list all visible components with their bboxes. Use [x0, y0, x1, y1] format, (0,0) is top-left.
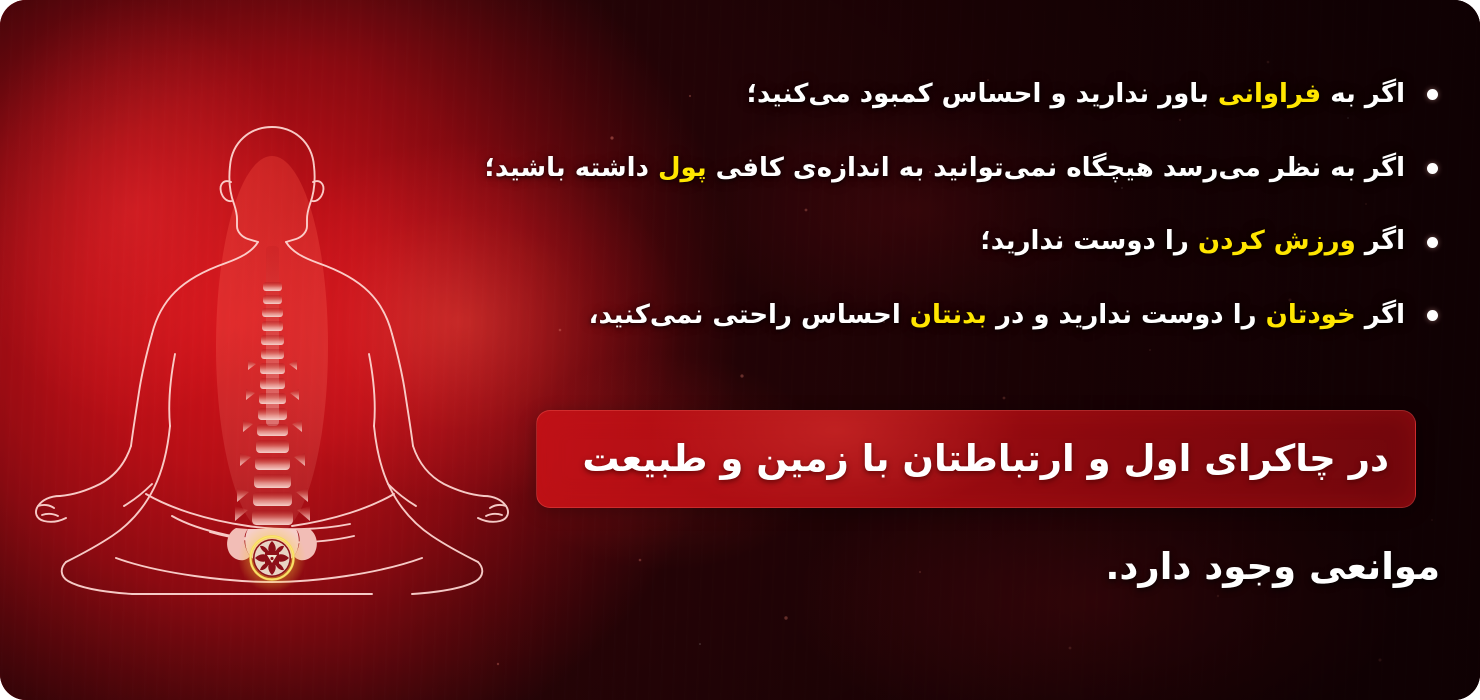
bullet-dot-icon [1427, 310, 1438, 321]
bullet-text: اگر خودتان را دوست ندارید و در بدنتان اح… [589, 297, 1405, 335]
bullet-text: اگر به نظر می‌رسد هیچگاه نمی‌توانید به ا… [485, 150, 1405, 188]
bullet-dot-icon [1427, 89, 1438, 100]
chakra-banner: اگر به فراوانی باور ندارید و احساس کمبود… [0, 0, 1480, 700]
bullet-text: اگر به فراوانی باور ندارید و احساس کمبود… [747, 76, 1405, 114]
list-item: اگر ورزش کردن را دوست ندارید؛ [400, 223, 1440, 261]
list-item: اگر خودتان را دوست ندارید و در بدنتان اح… [400, 297, 1440, 335]
closing-line: موانعی وجود دارد. [0, 542, 1440, 592]
bullet-dot-icon [1427, 237, 1438, 248]
bullet-dot-icon [1427, 163, 1438, 174]
list-item: اگر به فراوانی باور ندارید و احساس کمبود… [400, 76, 1440, 114]
callout-highlight-box: در چاکرای اول و ارتباطتان با زمین و طبیع… [536, 410, 1416, 508]
content-column: اگر به فراوانی باور ندارید و احساس کمبود… [0, 0, 1480, 700]
callout-text: در چاکرای اول و ارتباطتان با زمین و طبیع… [582, 434, 1389, 484]
list-item: اگر به نظر می‌رسد هیچگاه نمی‌توانید به ا… [400, 150, 1440, 188]
closing-text: موانعی وجود دارد. [1105, 545, 1440, 588]
bullet-list: اگر به فراوانی باور ندارید و احساس کمبود… [400, 76, 1440, 371]
bullet-text: اگر ورزش کردن را دوست ندارید؛ [980, 223, 1405, 261]
